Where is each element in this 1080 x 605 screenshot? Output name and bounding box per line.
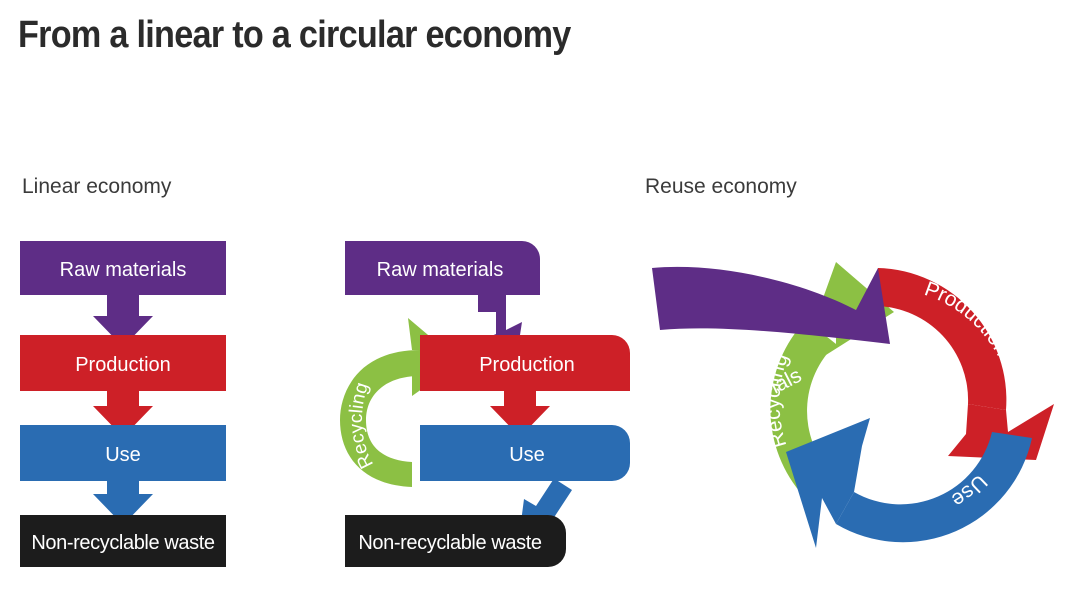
reuse-label-use: Use [509,444,545,466]
circular-economy-diagram: Production Use Recycling Raw materials [640,0,1080,605]
panel-circular-economy: Circular economy Production Use Recyclin… [640,0,1080,605]
reuse-economy-diagram: Raw materials Production Use Non-recycla… [300,0,640,605]
linear-label-raw-materials: Raw materials [60,259,187,281]
circular-arc-use [836,432,1032,542]
linear-label-production: Production [75,354,171,376]
linear-label-use: Use [105,444,141,466]
reuse-label-raw-materials: Raw materials [377,259,504,281]
reuse-label-production: Production [479,354,575,376]
reuse-label-non-recyclable-waste: Non-recyclable waste [358,532,541,554]
panel-linear-economy: Linear economy Raw materials Production … [0,0,300,605]
linear-economy-diagram: Raw materials Production Use Non-recycla… [0,0,300,605]
panel-reuse-economy: Reuse economy Raw materials Production U… [300,0,640,605]
linear-label-non-recyclable-waste: Non-recyclable waste [31,532,214,554]
